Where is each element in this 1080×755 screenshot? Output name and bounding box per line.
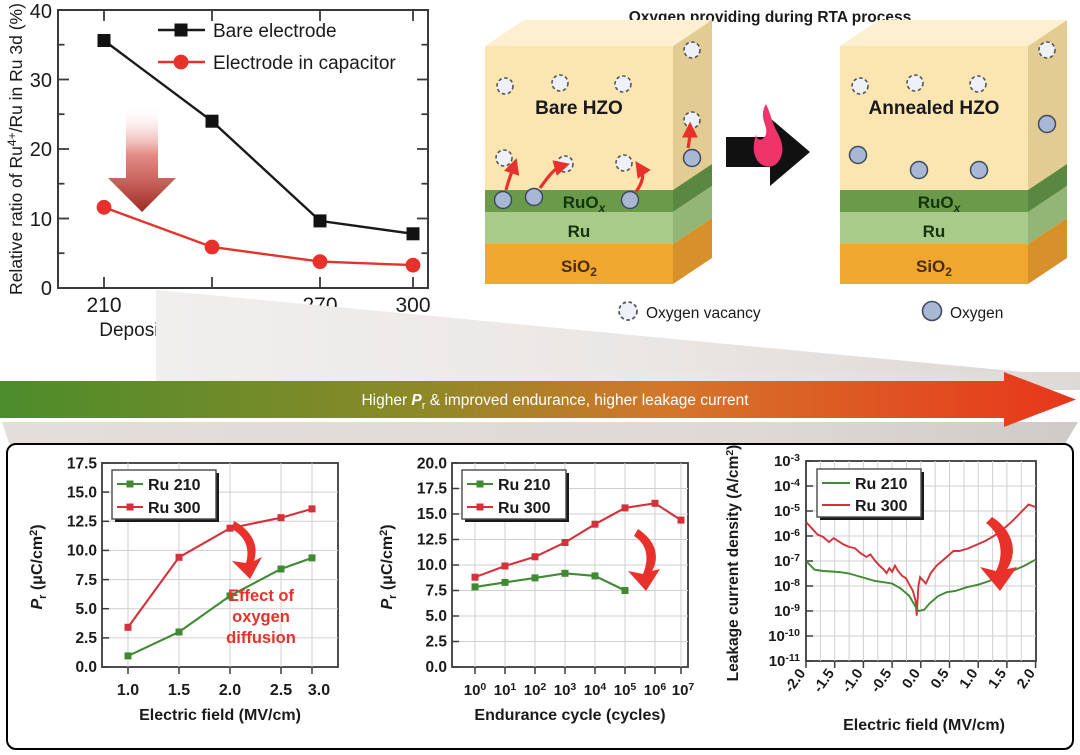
legend-label: Ru 210: [498, 477, 551, 494]
x-axis-title: Endurance cycle (cycles): [474, 707, 665, 724]
trend-banner-arrow: Higher Pr & improved endurance, higher l…: [0, 372, 1080, 427]
svg-text:101: 101: [494, 681, 517, 699]
svg-text:10-5: 10-5: [774, 502, 800, 520]
x-axis-ticks: [806, 661, 1036, 668]
legend-label: Ru 300: [148, 500, 201, 517]
svg-text:oxygen: oxygen: [232, 608, 290, 626]
svg-text:Leakage current density (A/cm2: Leakage current density (A/cm2): [724, 445, 742, 682]
hzo-label: Annealed HZO: [869, 98, 1000, 119]
svg-text:10-6: 10-6: [774, 527, 800, 545]
svg-text:Relative ratio of Ru4+/Ru in R: Relative ratio of Ru4+/Ru in Ru 3d (%): [5, 3, 26, 295]
svg-text:2.0: 2.0: [1014, 666, 1039, 692]
svg-text:1.5: 1.5: [986, 666, 1011, 692]
bottom-charts-panel: 0.0 2.5 5.0 7.5 10.0 12.5 15.0 17.5 1.0 …: [6, 443, 1074, 750]
svg-text:Pr (μC/cm2): Pr (μC/cm2): [378, 524, 399, 609]
svg-text:12.5: 12.5: [417, 532, 448, 549]
y-axis-title: Relative ratio of Ru4+/Ru in Ru 3d (%): [5, 3, 26, 295]
svg-text:20: 20: [30, 139, 52, 161]
svg-text:2.5: 2.5: [425, 634, 447, 651]
svg-text:10-9: 10-9: [774, 602, 800, 620]
y-tick-labels: 0 10 20 30 40: [30, 1, 52, 300]
rta-schematic: Oxygen providing during RTA process Bare…: [460, 0, 1080, 335]
y-axis-title: Pr (μC/cm2): [378, 524, 399, 609]
hzo-top-face: [485, 20, 712, 46]
svg-text:107: 107: [672, 681, 695, 699]
x-axis-title: Electric field (MV/cm): [139, 707, 301, 724]
xps-ratio-chart: 0 10 20 30 40 210 240 270 300 Deposition…: [0, 0, 460, 340]
y-tick-labels: 10-3 10-4 10-5 10-6 10-7 10-8 10-9 10-10…: [768, 452, 800, 670]
svg-text:0.0: 0.0: [75, 659, 97, 676]
y-axis-title: Pr (μC/cm2): [28, 524, 49, 609]
svg-text:15.0: 15.0: [417, 506, 447, 523]
svg-text:17.5: 17.5: [67, 456, 98, 473]
svg-text:10.0: 10.0: [67, 543, 97, 560]
svg-text:0.0: 0.0: [425, 659, 447, 676]
svg-text:3.0: 3.0: [308, 682, 330, 699]
svg-text:100: 100: [464, 681, 487, 699]
y-tick-labels: 0.0 2.5 5.0 7.5 10.0 12.5 15.0 17.5: [67, 456, 98, 677]
bare-hzo-block: Bare HZO RuOx Ru SiO2: [485, 20, 712, 284]
svg-text:10-8: 10-8: [774, 577, 800, 595]
legend-label: Ru 210: [148, 477, 201, 494]
legend-label: Ru 300: [855, 498, 908, 515]
hzo-top-face: [840, 20, 1067, 46]
chart-legend: Ru 210 Ru 300: [817, 469, 924, 520]
x-tick-labels: 1.0 1.5 2.0 2.5 3.0: [117, 682, 330, 699]
legend-label: Ru 300: [498, 500, 551, 517]
svg-text:102: 102: [524, 681, 547, 699]
x-axis-ticks: [128, 667, 312, 674]
svg-text:5.0: 5.0: [425, 608, 447, 625]
x-axis-title: Electric field (MV/cm): [843, 717, 1005, 734]
svg-text:Pr (μC/cm2): Pr (μC/cm2): [28, 524, 49, 609]
svg-text:0.5: 0.5: [928, 666, 953, 692]
svg-text:Effect of: Effect of: [228, 587, 295, 605]
legend-label: Electrode in capacitor: [213, 53, 396, 74]
legend-label: Ru 210: [855, 476, 908, 493]
svg-text:2.0: 2.0: [219, 682, 241, 699]
svg-text:-1.5: -1.5: [811, 666, 838, 696]
pr-vs-field-chart: 0.0 2.5 5.0 7.5 10.0 12.5 15.0 17.5 1.0 …: [16, 445, 366, 748]
svg-text:105: 105: [614, 681, 637, 699]
svg-text:10-7: 10-7: [774, 552, 800, 570]
svg-text:-0.5: -0.5: [868, 666, 895, 696]
flame-arrow-icon: [726, 104, 810, 186]
svg-text:1.5: 1.5: [168, 682, 190, 699]
y-axis-title: Leakage current density (A/cm2): [724, 445, 742, 682]
svg-text:40: 40: [30, 1, 52, 23]
svg-text:2.5: 2.5: [75, 630, 97, 647]
svg-text:7.5: 7.5: [75, 572, 97, 589]
ru-label: Ru: [923, 222, 946, 241]
svg-text:10: 10: [30, 209, 52, 231]
pr-vs-endurance-chart: 0.0 2.5 5.0 7.5 10.0 12.5 15.0 17.5 20.0…: [366, 445, 716, 748]
svg-text:12.5: 12.5: [67, 514, 98, 531]
chart-legend: Ru 210 Ru 300: [112, 470, 219, 522]
legend-label: Bare electrode: [213, 21, 337, 42]
chart-legend: Ru 210 Ru 300: [462, 470, 569, 522]
svg-text:15.0: 15.0: [67, 485, 97, 502]
svg-text:-1.0: -1.0: [839, 666, 866, 696]
svg-text:104: 104: [584, 681, 607, 699]
oxygen-diffusion-note: Effect of oxygen diffusion: [226, 587, 296, 647]
svg-text:0.0: 0.0: [899, 666, 924, 692]
leakage-current-chart: 10-3 10-4 10-5 10-6 10-7 10-8 10-9 10-10…: [714, 445, 1070, 748]
svg-text:-2.0: -2.0: [782, 666, 809, 696]
annealed-hzo-block: Annealed HZO RuOx Ru SiO2: [840, 20, 1067, 284]
svg-text:5.0: 5.0: [75, 601, 97, 618]
svg-text:1.0: 1.0: [117, 682, 139, 699]
x-tick-labels: 100 101 102 103 104 105 106 107: [464, 681, 695, 699]
svg-text:106: 106: [644, 681, 667, 699]
x-tick-labels: -2.0 -1.5 -1.0 -0.5 0.0 0.5 1.0 1.5 2.0: [782, 666, 1039, 696]
svg-text:diffusion: diffusion: [226, 629, 296, 647]
svg-text:1.0: 1.0: [957, 666, 982, 692]
svg-text:10-10: 10-10: [768, 627, 800, 645]
svg-text:17.5: 17.5: [417, 481, 448, 498]
svg-text:103: 103: [554, 681, 577, 699]
hzo-label: Bare HZO: [535, 98, 623, 119]
svg-text:10.0: 10.0: [417, 557, 447, 574]
svg-text:7.5: 7.5: [425, 583, 447, 600]
svg-text:10-4: 10-4: [774, 477, 800, 495]
x-axis-ticks: [475, 667, 681, 674]
svg-text:10-3: 10-3: [774, 452, 800, 470]
svg-text:20.0: 20.0: [417, 456, 447, 473]
ru-label: Ru: [568, 222, 591, 241]
y-tick-labels: 0.0 2.5 5.0 7.5 10.0 12.5 15.0 17.5 20.0: [417, 456, 448, 677]
svg-text:30: 30: [30, 70, 52, 92]
svg-text:2.5: 2.5: [270, 682, 292, 699]
